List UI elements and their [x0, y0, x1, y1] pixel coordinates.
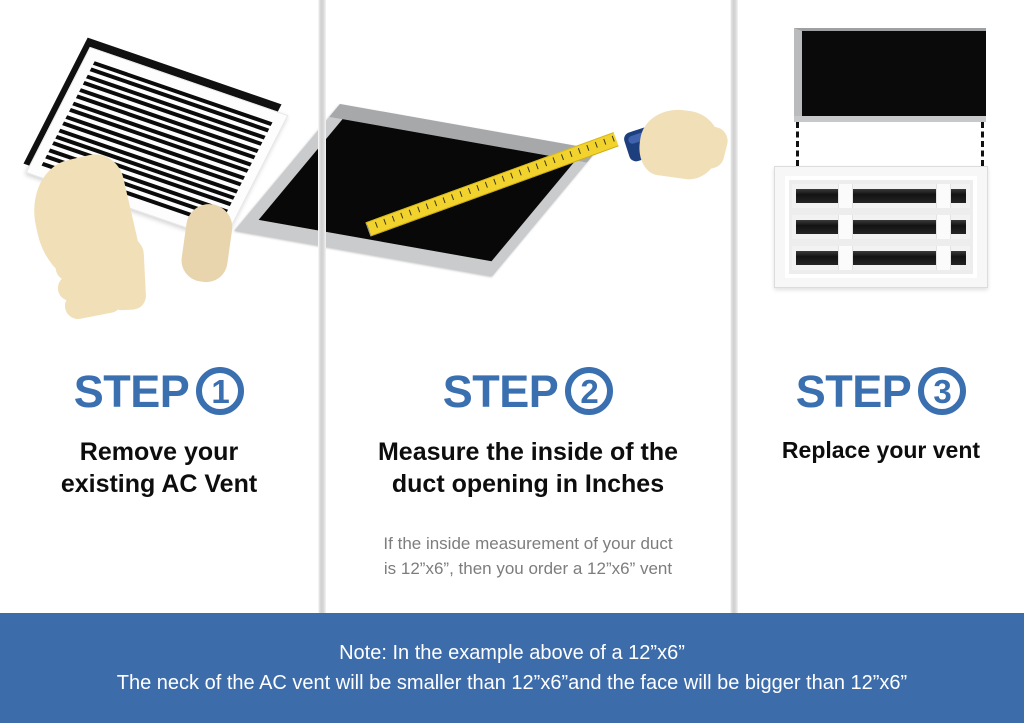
- step-panel-3: STEP 3 Replace your vent: [738, 0, 1024, 613]
- step-1-title-line2: existing AC Vent: [8, 468, 310, 500]
- step-3-number-badge: 3: [918, 367, 966, 415]
- vent-divider-post: [838, 184, 853, 208]
- step-3-title-line1: Replace your vent: [746, 436, 1016, 465]
- vent-divider-post: [936, 215, 951, 239]
- vent-removal-graphic: [34, 52, 284, 302]
- thumb-graphic: [105, 235, 147, 311]
- step-3-heading: STEP 3: [738, 360, 1024, 422]
- step-2-title: Measure the inside of the duct opening i…: [326, 436, 730, 500]
- panel-divider-2: [730, 0, 738, 613]
- step-2-number-badge: 2: [565, 367, 613, 415]
- duct-opening-shape: [794, 28, 986, 116]
- step-panel-2: STEP 2 Measure the inside of the duct op…: [326, 0, 730, 613]
- step-2-title-line1: Measure the inside of the: [334, 436, 722, 468]
- step-2-illustration: [326, 0, 730, 360]
- infographic-root: STEP 1 Remove your existing AC Vent: [0, 0, 1024, 723]
- vent-register-inner: [785, 176, 977, 278]
- note-banner-line2: The neck of the AC vent will be smaller …: [117, 668, 907, 698]
- panel-divider-1: [318, 0, 326, 613]
- step-1-word: STEP: [74, 369, 190, 414]
- vent-louver-row: [792, 215, 970, 239]
- step-1-number-badge: 1: [196, 367, 244, 415]
- duct-base-edge: [794, 116, 986, 122]
- step-2-subtext: If the inside measurement of your duct i…: [326, 532, 730, 581]
- vent-divider-post: [838, 215, 853, 239]
- duct-measuring-graphic: [340, 96, 716, 286]
- alignment-dashed-line-right: [981, 122, 984, 166]
- step-2-heading: STEP 2: [326, 360, 730, 422]
- step-2-subtext-line2: is 12”x6”, then you order a 12”x6” vent: [332, 557, 724, 582]
- note-banner-line1: Note: In the example above of a 12”x6”: [339, 638, 685, 668]
- step-3-word: STEP: [796, 369, 912, 414]
- replacement-vent-register: [774, 166, 988, 288]
- step-2-word: STEP: [443, 369, 559, 414]
- step-1-title-line1: Remove your: [8, 436, 310, 468]
- step-1-captions: STEP 1 Remove your existing AC Vent: [0, 360, 318, 500]
- step-2-subtext-line1: If the inside measurement of your duct: [332, 532, 724, 557]
- step-1-title: Remove your existing AC Vent: [0, 436, 318, 500]
- vent-louver-row: [792, 246, 970, 270]
- vent-louver-row: [792, 184, 970, 208]
- step-panel-1: STEP 1 Remove your existing AC Vent: [0, 0, 318, 613]
- note-banner: Note: In the example above of a 12”x6” T…: [0, 613, 1024, 723]
- vent-divider-post: [838, 246, 853, 270]
- step-3-illustration: [738, 0, 1024, 360]
- step-3-title: Replace your vent: [738, 436, 1024, 465]
- step-3-captions: STEP 3 Replace your vent: [738, 360, 1024, 465]
- alignment-dashed-line-left: [796, 122, 799, 166]
- step-1-heading: STEP 1: [0, 360, 318, 422]
- step-2-title-line2: duct opening in Inches: [334, 468, 722, 500]
- vent-divider-post: [936, 246, 951, 270]
- vent-divider-post: [936, 184, 951, 208]
- step-1-illustration: [0, 0, 318, 360]
- vent-replacement-graphic: [766, 28, 996, 328]
- step-2-captions: STEP 2 Measure the inside of the duct op…: [326, 360, 730, 581]
